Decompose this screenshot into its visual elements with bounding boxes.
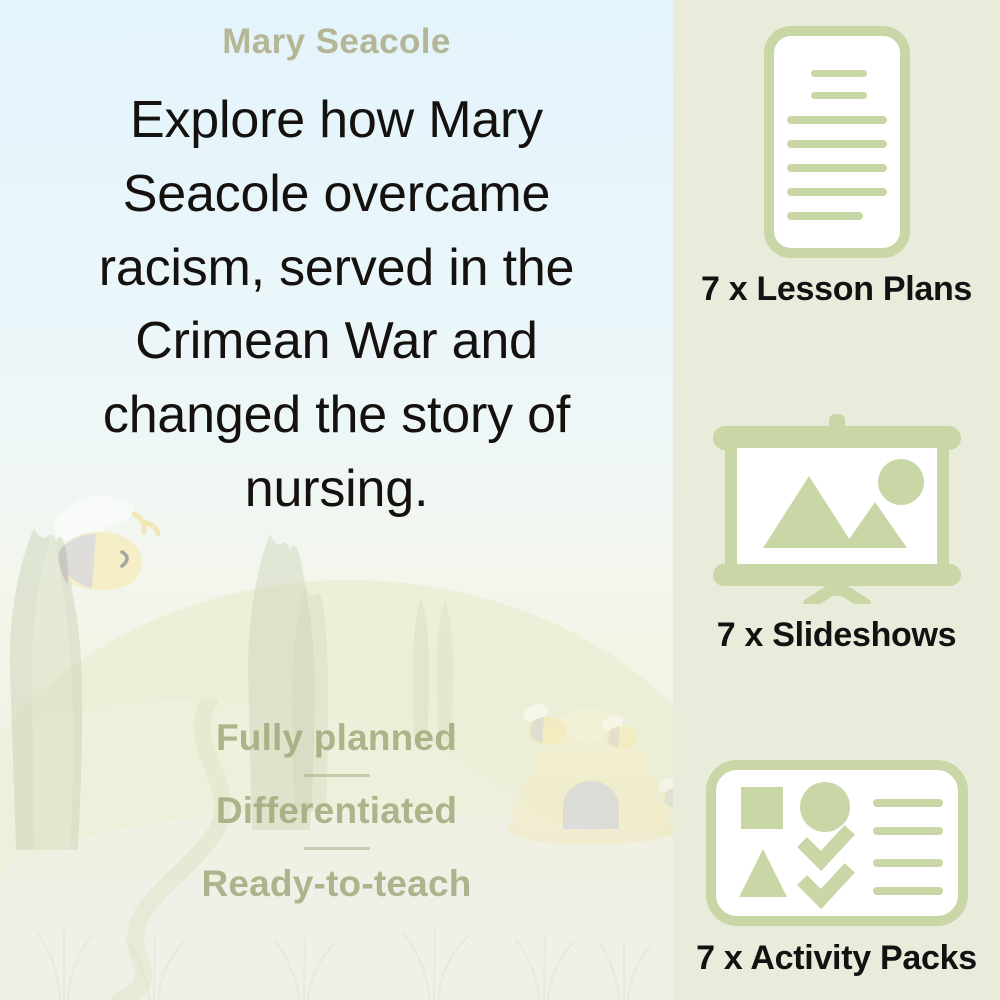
resource-item-activity-packs: 7 x Activity Packs <box>673 759 1000 978</box>
left-content: Mary Seacole Explore how Mary Seacole ov… <box>0 0 673 1000</box>
left-panel: Mary Seacole Explore how Mary Seacole ov… <box>0 0 673 1000</box>
resource-label-slideshows: 7 x Slideshows <box>717 616 957 655</box>
presentation-screen-icon <box>705 414 969 604</box>
feature-item-ready-to-teach: Ready-to-teach <box>201 864 471 904</box>
feature-divider <box>304 774 370 777</box>
page-title: Mary Seacole <box>222 22 451 62</box>
resource-label-lesson-plans: 7 x Lesson Plans <box>701 270 972 309</box>
activity-card-icon <box>705 759 969 927</box>
feature-divider <box>304 847 370 850</box>
promo-poster: Mary Seacole Explore how Mary Seacole ov… <box>0 0 1000 1000</box>
document-icon <box>764 26 910 258</box>
resource-label-activity-packs: 7 x Activity Packs <box>696 939 977 978</box>
feature-list: Fully planned Differentiated Ready-to-te… <box>0 718 673 904</box>
feature-item-fully-planned: Fully planned <box>216 718 457 758</box>
feature-item-differentiated: Differentiated <box>216 791 457 831</box>
resource-item-slideshows: 7 x Slideshows <box>673 414 1000 655</box>
resource-item-lesson-plans: 7 x Lesson Plans <box>673 26 1000 309</box>
headline-text: Explore how Mary Seacole overcame racism… <box>57 84 617 527</box>
resources-panel: 7 x Lesson Plans <box>673 0 1000 1000</box>
